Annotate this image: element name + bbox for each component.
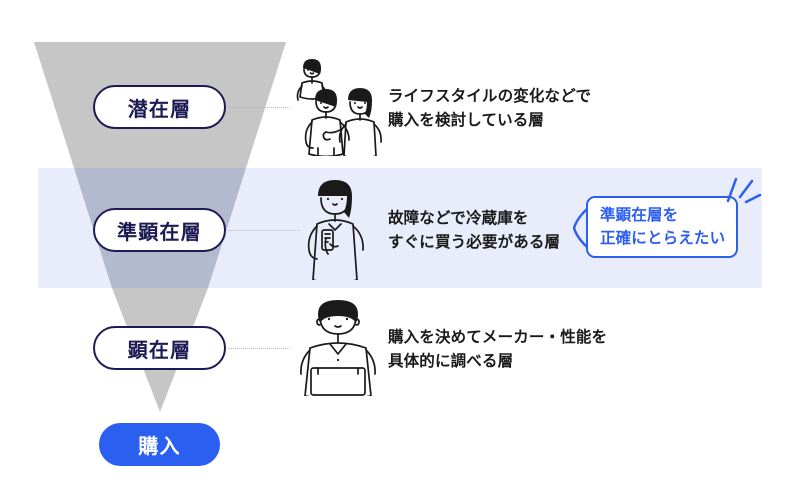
stage-pill-latent[interactable]: 潜在層 bbox=[93, 85, 226, 129]
stage-description-latent: ライフスタイルの変化などで 購入を検討している層 bbox=[388, 85, 591, 133]
family-parent-carrying-child-icon bbox=[288, 52, 384, 156]
connector-line-latent bbox=[228, 107, 290, 108]
connector-line-semi-active bbox=[228, 230, 300, 231]
sparkle-lines-icon bbox=[722, 171, 762, 205]
stage-pill-semi-active[interactable]: 準顕在層 bbox=[93, 208, 226, 252]
callout-text: 準顕在層を 正確にとらえたい bbox=[600, 204, 725, 251]
person-with-laptop-icon bbox=[288, 292, 388, 396]
stage-description-semi-active: 故障などで冷蔵庫を すぐに買う必要がある層 bbox=[388, 207, 560, 255]
connector-line-active bbox=[228, 348, 290, 349]
stage-pill-purchase[interactable]: 購入 bbox=[99, 423, 220, 466]
stage-pill-active[interactable]: 顕在層 bbox=[93, 326, 226, 370]
stage-description-active: 購入を決めてメーカー・性能を 具体的に調べる層 bbox=[388, 326, 607, 374]
funnel-diagram-canvas: 潜在層 準顕在層 顕在層 購入 ライフスタイルの変化などで 購入を検討している層… bbox=[0, 0, 800, 500]
callout-box: 準顕在層を 正確にとらえたい bbox=[586, 196, 738, 258]
person-holding-smartphone-icon bbox=[300, 172, 378, 280]
